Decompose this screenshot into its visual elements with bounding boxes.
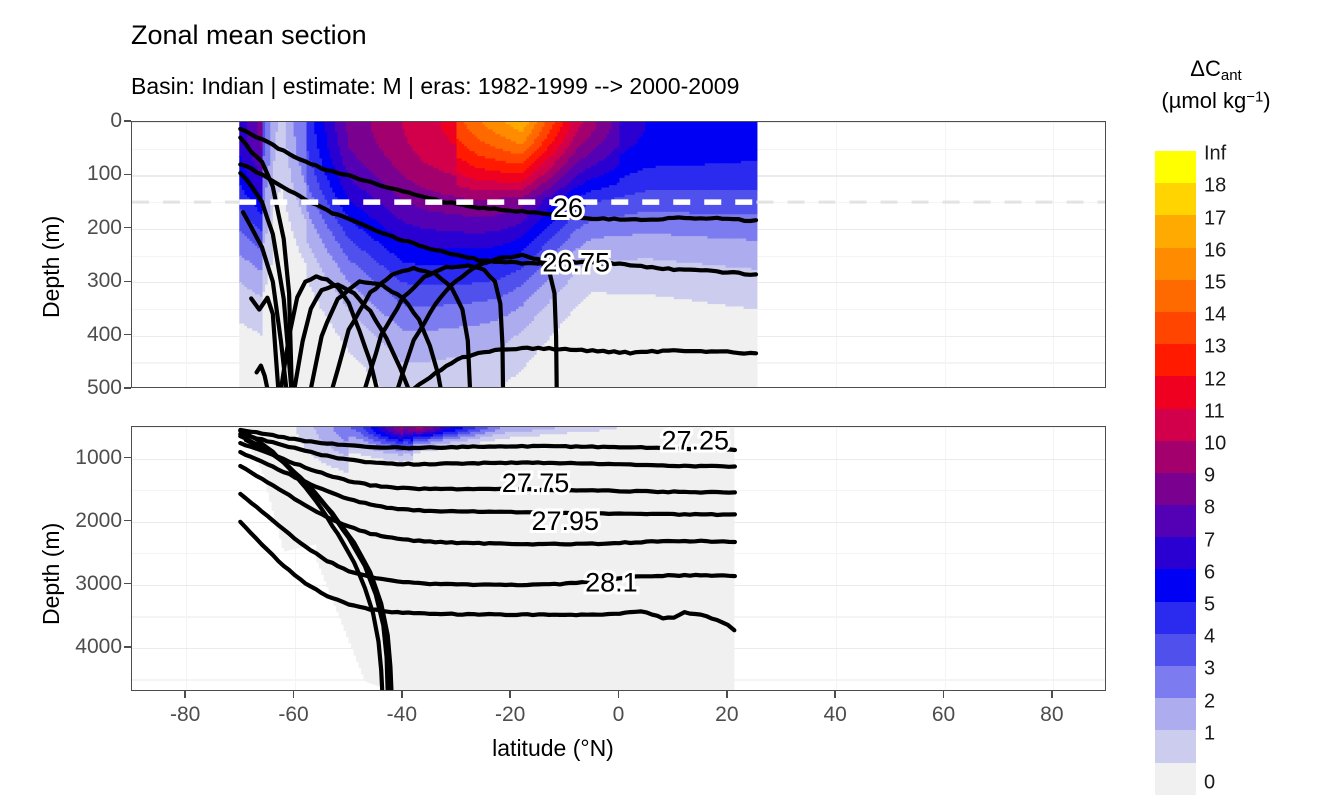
x-axis-tick-label: 20 [715, 703, 738, 727]
svg-text:26: 26 [553, 193, 583, 223]
legend-key-label: 10 [1204, 433, 1226, 456]
page-subtitle: Basin: Indian | estimate: M | eras: 1982… [131, 73, 739, 100]
x-axis-tick-label: 0 [613, 703, 625, 727]
legend-key-label: 18 [1204, 175, 1226, 198]
x-axis-tick-mark [834, 691, 835, 698]
y-axis-tick-label: 400 [87, 323, 122, 347]
bottom-panel-plot-area: 27.2527.7527.9528.1 [131, 426, 1106, 691]
x-axis-tick-label: 80 [1040, 703, 1063, 727]
legend-swatch[interactable] [1155, 409, 1196, 441]
y-axis-tick-label: 0 [110, 109, 122, 133]
x-axis-tick-mark [509, 691, 510, 698]
y-axis-tick-mark [124, 646, 131, 647]
svg-text:28.1: 28.1 [585, 568, 638, 598]
y-axis-tick-label: 300 [87, 269, 122, 293]
legend-key-label: 6 [1204, 561, 1215, 584]
y-axis-tick-mark [124, 120, 131, 121]
x-axis-tick-label: 60 [932, 703, 955, 727]
legend-swatch[interactable] [1155, 634, 1196, 666]
legend-unit-prefix: (µmol kg [1161, 88, 1246, 113]
y-axis-title-bottom: Depth (m) [38, 523, 65, 625]
y-axis-tick-label: 4000 [75, 635, 122, 659]
legend-key-label: 0 [1204, 771, 1215, 794]
legend-key-label: 14 [1204, 304, 1226, 327]
legend-key-label: 4 [1204, 626, 1215, 649]
legend-key-label: 8 [1204, 497, 1215, 520]
bottom-panel-contour-field: 27.2527.7527.9528.1 [132, 427, 1106, 691]
x-axis-tick-label: -60 [278, 703, 308, 727]
x-axis-tick-mark [943, 691, 944, 698]
legend-title-subscript: ant [1221, 67, 1242, 84]
legend-swatch[interactable] [1155, 602, 1196, 634]
y-axis-tick-label: 200 [87, 216, 122, 240]
legend-swatch[interactable] [1155, 505, 1196, 537]
legend: ΔCant (µmol kg−1) Inf1817161514131211109… [1116, 20, 1344, 790]
x-axis-tick-mark [1051, 691, 1052, 698]
legend-key-label: 17 [1204, 207, 1226, 230]
legend-swatch[interactable] [1155, 666, 1196, 698]
svg-text:27.75: 27.75 [502, 468, 570, 498]
top-panel-plot-area: 2626.75 [131, 121, 1106, 388]
y-axis-tick-label: 100 [87, 162, 122, 186]
legend-key-label: 15 [1204, 272, 1226, 295]
legend-unit-suffix: ) [1263, 88, 1270, 113]
legend-key-label: 2 [1204, 690, 1215, 713]
legend-swatch[interactable] [1155, 441, 1196, 473]
y-axis-tick-mark [124, 457, 131, 458]
y-axis-tick-mark [124, 387, 131, 388]
legend-swatch[interactable] [1155, 312, 1196, 344]
legend-swatch[interactable] [1155, 473, 1196, 505]
y-axis-tick-label: 3000 [75, 572, 122, 596]
x-axis-tick-mark [726, 691, 727, 698]
x-axis-ticks: -80-60-40-20020406080 [131, 691, 1106, 731]
legend-title-delta: ΔC [1190, 56, 1221, 81]
legend-key-label: 12 [1204, 368, 1226, 391]
x-axis-tick-mark [293, 691, 294, 698]
legend-swatch[interactable] [1155, 376, 1196, 408]
x-axis-tick-label: -80 [170, 703, 200, 727]
legend-key-label: Inf [1204, 143, 1226, 166]
legend-key-label: 11 [1204, 400, 1225, 423]
top-panel-contour-field: 2626.75 [132, 122, 1106, 388]
page-title: Zonal mean section [131, 20, 367, 51]
y-axis-tick-label: 500 [87, 376, 122, 400]
y-axis-tick-label: 1000 [75, 446, 122, 470]
legend-swatch[interactable] [1155, 698, 1196, 730]
y-axis-tick-label: 2000 [75, 509, 122, 533]
legend-swatch[interactable] [1155, 248, 1196, 280]
y-axis-tick-mark [124, 281, 131, 282]
y-axis-tick-mark [124, 583, 131, 584]
legend-key-label: 7 [1204, 529, 1215, 552]
legend-swatch[interactable] [1155, 730, 1196, 762]
y-axis-title-top: Depth (m) [38, 216, 65, 318]
x-axis-tick-label: 40 [823, 703, 846, 727]
legend-key-label: 5 [1204, 594, 1215, 617]
legend-swatch[interactable] [1155, 280, 1196, 312]
legend-key-label: 16 [1204, 239, 1226, 262]
x-axis-tick-mark [184, 691, 185, 698]
legend-swatch[interactable] [1155, 569, 1196, 601]
bottom-panel-y-ticks: 1000200030004000 [66, 426, 122, 691]
x-axis-tick-label: -20 [495, 703, 525, 727]
legend-key-label: 9 [1204, 465, 1215, 488]
svg-text:27.95: 27.95 [532, 506, 600, 536]
legend-swatch[interactable] [1155, 344, 1196, 376]
x-axis-tick-label: -40 [387, 703, 417, 727]
y-axis-tick-mark [124, 334, 131, 335]
x-axis-tick-mark [618, 691, 619, 698]
legend-key-label: 1 [1204, 722, 1215, 745]
y-axis-tick-mark [124, 227, 131, 228]
svg-text:27.25: 27.25 [662, 427, 730, 455]
legend-swatch[interactable] [1155, 215, 1196, 247]
legend-unit-superscript: −1 [1246, 89, 1263, 106]
legend-swatch[interactable] [1155, 763, 1196, 795]
x-axis-tick-mark [401, 691, 402, 698]
legend-title: ΔCant (µmol kg−1) [1116, 54, 1316, 116]
colorbar[interactable] [1155, 151, 1196, 795]
y-axis-tick-mark [124, 520, 131, 521]
legend-key-label: 3 [1204, 658, 1215, 681]
legend-swatch[interactable] [1155, 151, 1196, 183]
legend-swatch[interactable] [1155, 183, 1196, 215]
x-axis-title: latitude (°N) [0, 735, 1106, 762]
y-axis-tick-mark [124, 174, 131, 175]
legend-swatch[interactable] [1155, 537, 1196, 569]
svg-text:26.75: 26.75 [542, 248, 610, 278]
top-panel-y-ticks: 0100200300400500 [66, 121, 122, 388]
legend-key-label: 13 [1204, 336, 1226, 359]
